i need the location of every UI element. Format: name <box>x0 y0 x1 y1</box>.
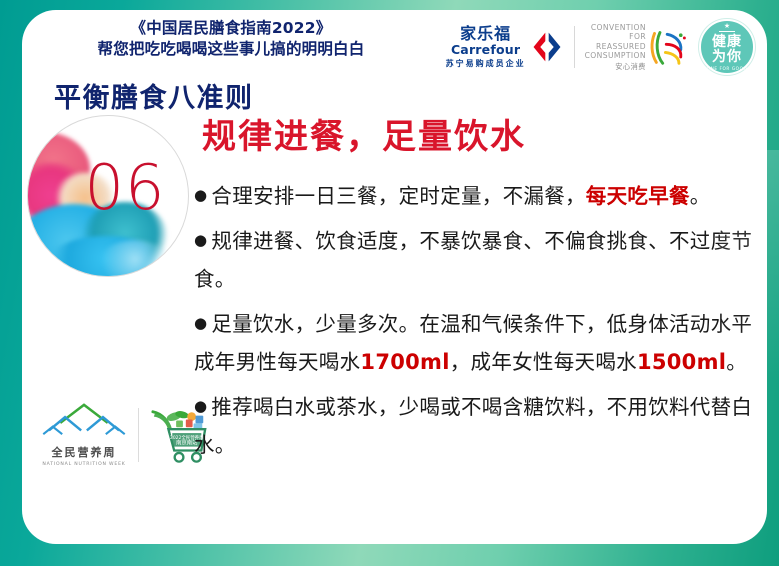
bullet-item: ●规律进餐、饮食适度，不暴饮暴食、不偏食挑食、不过度节食。 <box>194 221 754 298</box>
bullet-marker-icon: ● <box>194 314 207 332</box>
carrefour-text: 家乐福 Carrefour 苏宁易购成员企业 <box>446 26 526 68</box>
chapter-number-badge: 06 <box>27 115 189 277</box>
carrefour-name-cn: 家乐福 <box>446 26 526 42</box>
bullet-text-segment: 1500ml <box>637 350 726 374</box>
main-title: 规律进餐，足量饮水 <box>202 114 754 160</box>
bullet-marker-icon: ● <box>194 231 207 249</box>
nutrition-week-logo: 全民营养周 NATIONAL NUTRITION WEEK <box>40 402 128 467</box>
bottom-logo-strip: 全民营养周 NATIONAL NUTRITION WEEK 2022全民营养周 … <box>40 402 211 467</box>
carrefour-logo: 家乐福 Carrefour 苏宁易购成员企业 <box>446 26 564 68</box>
bullet-text-segment: 。 <box>726 350 747 374</box>
header-title-block: 《中国居民膳食指南2022》 帮您把吃吃喝喝这些事儿搞的明明白白 <box>56 18 406 60</box>
nutrition-week-name-en: NATIONAL NUTRITION WEEK <box>40 462 128 467</box>
bullet-text-segment: 推荐喝白水或茶水，少喝或不喝含糖饮料，不用饮料代替白水。 <box>194 395 752 457</box>
bullet-item: ●合理安排一日三餐，定时定量，不漏餐，每天吃早餐。 <box>194 176 754 215</box>
bullet-text-segment: 每天吃早餐 <box>586 184 690 208</box>
convention-line3: REASSURED <box>585 42 646 51</box>
chapter-number-value: 06 <box>28 116 188 276</box>
bullet-text-segment: 规律进餐、饮食适度，不暴饮暴食、不偏食挑食、不过度节食。 <box>194 229 752 291</box>
bullet-text-segment: 合理安排一日三餐，定时定量，不漏餐， <box>211 184 585 208</box>
badge-rule <box>719 31 735 32</box>
header-title-line2: 帮您把吃吃喝喝这些事儿搞的明明白白 <box>56 39 406 60</box>
bullet-list: ●合理安排一日三餐，定时定量，不漏餐，每天吃早餐。●规律进餐、饮食适度，不暴饮暴… <box>194 176 754 464</box>
carrefour-subtitle: 苏宁易购成员企业 <box>446 60 526 68</box>
convention-line2: FOR <box>585 32 646 41</box>
logo-divider-2 <box>138 408 139 462</box>
bullet-text-segment: 。 <box>690 184 711 208</box>
mountain-chevron-icon <box>40 402 128 438</box>
slide-card: 《中国居民膳食指南2022》 帮您把吃吃喝喝这些事儿搞的明明白白 家乐福 Car… <box>22 10 767 544</box>
main-content: 规律进餐，足量饮水 ●合理安排一日三餐，定时定量，不漏餐，每天吃早餐。●规律进餐… <box>194 114 754 470</box>
badge-line1: 健康 <box>712 35 742 49</box>
slide-background: 《中国居民膳食指南2022》 帮您把吃吃喝喝这些事儿搞的明明白白 家乐福 Car… <box>0 0 779 566</box>
badge-line2: 为你 <box>712 50 742 64</box>
badge-star-icon: ★ <box>724 23 730 30</box>
header-title-line1: 《中国居民膳食指南2022》 <box>56 18 406 39</box>
bullet-item: ●推荐喝白水或茶水，少喝或不喝含糖饮料，不用饮料代替白水。 <box>194 387 754 464</box>
logo-divider-1 <box>574 26 575 68</box>
section-title: 平衡膳食八准则 <box>54 76 254 115</box>
bullet-item: ●足量饮水，少量多次。在温和气候条件下，低身体活动水平成年男性每天喝水1700m… <box>194 304 754 381</box>
bullet-text-segment: 1700ml <box>360 350 449 374</box>
nutrition-week-name-cn: 全民营养周 <box>40 444 128 460</box>
carrefour-chevron-icon <box>530 31 564 63</box>
bullet-text-segment: ，成年女性每天喝水 <box>450 350 637 374</box>
badge-en-text: ONE FOR GOOD <box>707 67 748 71</box>
convention-logo: CONVENTION FOR REASSURED CONSUMPTION 安心消… <box>585 23 689 71</box>
partner-logo-strip: 家乐福 Carrefour 苏宁易购成员企业 CONVENTION FOR <box>446 19 755 75</box>
convention-line4: CONSUMPTION <box>585 51 646 60</box>
convention-name-cn: 安心消费 <box>585 62 646 71</box>
convention-line1: CONVENTION <box>585 23 646 32</box>
convention-ribbon-icon <box>649 28 689 66</box>
bullet-marker-icon: ● <box>194 186 207 204</box>
slide-header: 《中国居民膳食指南2022》 帮您把吃吃喝喝这些事儿搞的明明白白 家乐福 Car… <box>22 10 767 82</box>
health-badge-logo: ★ 健康 为你 ONE FOR GOOD <box>699 19 755 75</box>
carrefour-name-en: Carrefour <box>446 44 526 57</box>
bullet-marker-icon: ● <box>194 397 207 415</box>
convention-text: CONVENTION FOR REASSURED CONSUMPTION 安心消… <box>585 23 646 71</box>
